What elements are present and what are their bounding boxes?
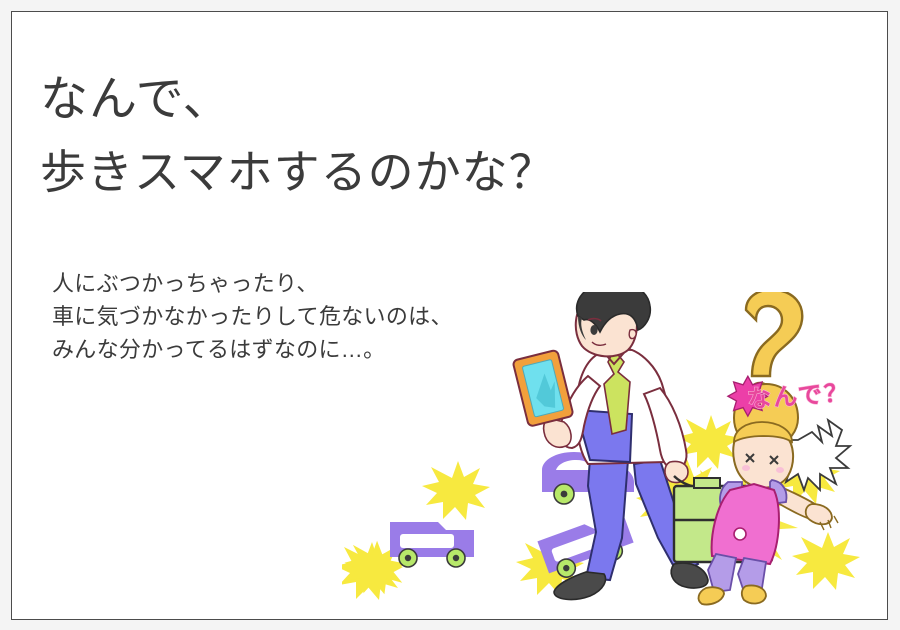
speech-bubble-text: なんで？ [746,372,851,414]
toy-car-1 [390,522,474,567]
slide-canvas: なんで、 歩きスマホするのかな？ 人にぶつかっちゃったり、 車に気づかなかったり… [0,0,900,630]
slide-frame: なんで、 歩きスマホするのかな？ 人にぶつかっちゃったり、 車に気づかなかったり… [11,11,888,620]
page-title: なんで、 歩きスマホするのかな？ [40,64,556,208]
illustration-group: なんで？ [342,292,887,612]
smartphone [512,350,573,427]
illustration-svg [342,292,887,612]
heading-line-1: なんで、 [40,64,556,136]
heading-line-2: 歩きスマホするのかな？ [40,136,556,208]
